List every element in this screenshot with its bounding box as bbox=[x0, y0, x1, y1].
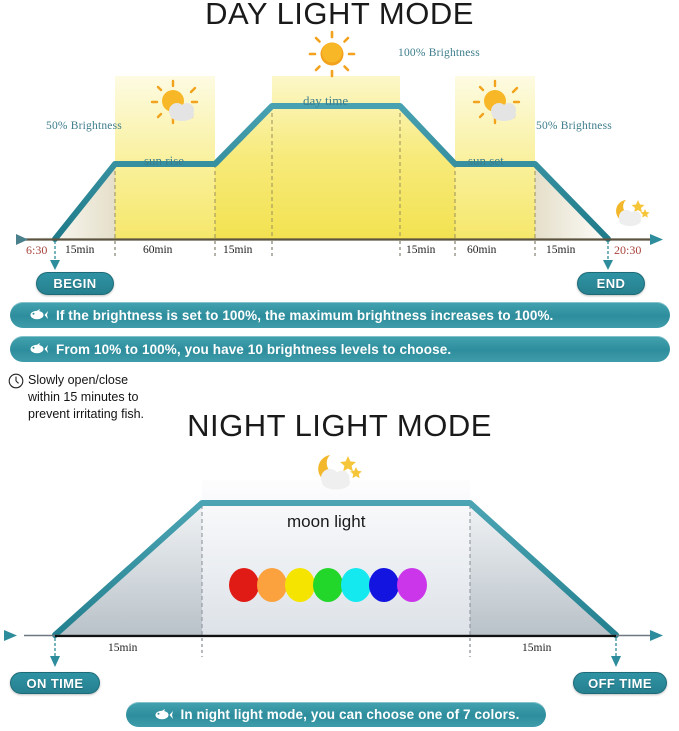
note-line-2: within 15 minutes to bbox=[8, 389, 228, 406]
brightness-label-right: 50% Brightness bbox=[536, 120, 612, 132]
segment-label-4: 15min bbox=[406, 244, 435, 256]
fish-icon bbox=[28, 343, 48, 355]
color-swatch-orange[interactable] bbox=[257, 568, 287, 602]
on-time-arrow-icon bbox=[50, 656, 60, 667]
night-light-chart: moon light 15min 15min bbox=[0, 455, 679, 700]
segment-label-5: 60min bbox=[467, 244, 496, 256]
info-banner-1-text: If the brightness is set to 100%, the ma… bbox=[56, 308, 553, 323]
night-segment-label-1: 15min bbox=[108, 642, 137, 654]
segment-label-1: 15min bbox=[65, 244, 94, 256]
end-button[interactable]: END bbox=[577, 272, 645, 295]
note-line-1: Slowly open/close bbox=[8, 372, 228, 389]
clock-icon bbox=[8, 373, 24, 389]
info-banner-3-text: In night light mode, you can choose one … bbox=[181, 707, 520, 722]
color-swatch-cyan[interactable] bbox=[341, 568, 371, 602]
info-banner-3: In night light mode, you can choose one … bbox=[126, 702, 546, 727]
zone-label-moonlight: moon light bbox=[287, 512, 365, 532]
night-segment-label-2: 15min bbox=[522, 642, 551, 654]
day-light-chart: 50% Brightness 100% Brightness 50% Brigh… bbox=[0, 34, 679, 294]
info-banner-2: From 10% to 100%, you have 10 brightness… bbox=[10, 336, 670, 362]
on-time-button[interactable]: ON TIME bbox=[10, 672, 100, 694]
off-time-arrow-icon bbox=[611, 656, 621, 667]
color-swatch-red[interactable] bbox=[229, 568, 259, 602]
color-swatch-yellow[interactable] bbox=[285, 568, 315, 602]
night-mode-title: NIGHT LIGHT MODE bbox=[0, 408, 679, 444]
off-time-button[interactable]: OFF TIME bbox=[573, 672, 667, 694]
segment-label-3: 15min bbox=[223, 244, 252, 256]
zone-label-sunset: sun set bbox=[468, 153, 504, 169]
end-arrow-icon bbox=[603, 260, 613, 270]
begin-arrow-icon bbox=[50, 260, 60, 270]
color-swatch-group[interactable] bbox=[229, 568, 425, 602]
start-time-label: 6:30 bbox=[26, 243, 47, 258]
fish-icon bbox=[153, 709, 173, 721]
info-banner-2-text: From 10% to 100%, you have 10 brightness… bbox=[56, 342, 451, 357]
color-swatch-blue[interactable] bbox=[369, 568, 399, 602]
fish-icon bbox=[28, 309, 48, 321]
brightness-label-peak: 100% Brightness bbox=[398, 47, 480, 59]
brightness-label-left: 50% Brightness bbox=[46, 120, 122, 132]
end-time-label: 20:30 bbox=[614, 243, 641, 258]
color-swatch-magenta[interactable] bbox=[397, 568, 427, 602]
segment-label-6: 15min bbox=[546, 244, 575, 256]
day-mode-title: DAY LIGHT MODE bbox=[0, 0, 679, 32]
zone-label-daytime: day time bbox=[303, 93, 348, 109]
info-banner-1: If the brightness is set to 100%, the ma… bbox=[10, 302, 670, 328]
zone-label-sunrise: sun rise bbox=[144, 153, 184, 169]
segment-label-2: 60min bbox=[143, 244, 172, 256]
begin-button[interactable]: BEGIN bbox=[36, 272, 114, 295]
color-swatch-green[interactable] bbox=[313, 568, 343, 602]
sun-icon bbox=[310, 32, 354, 76]
day-chart-svg bbox=[0, 34, 679, 294]
